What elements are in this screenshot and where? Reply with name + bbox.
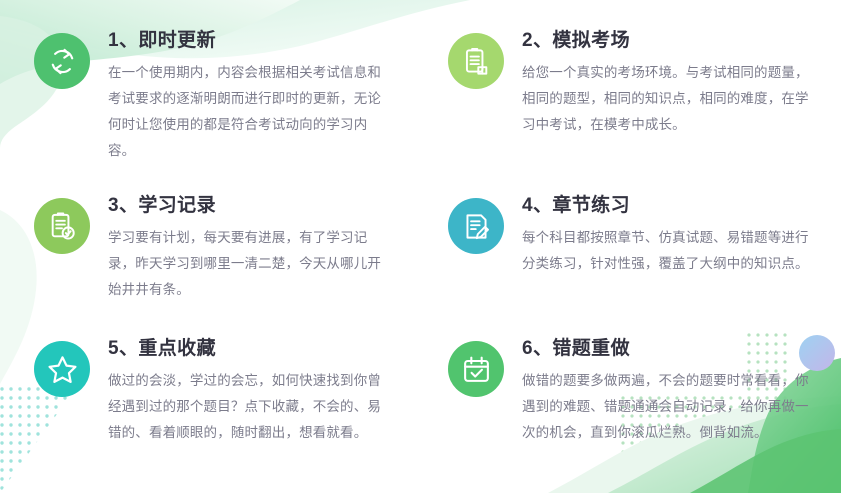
feature-card-4-title: 4、章节练习 bbox=[522, 193, 811, 219]
feature-card-1: 1、即时更新 在一个使用期内，内容会根据相关考试信息和考试要求的逐渐明朗而进行即… bbox=[0, 28, 420, 193]
star-outline-icon bbox=[34, 341, 90, 397]
feature-card-3-title: 3、学习记录 bbox=[108, 193, 390, 219]
feature-card-4-body: 4、章节练习 每个科目都按照章节、仿真试题、易错题等进行分类练习，针对性强，覆盖… bbox=[522, 193, 811, 277]
feature-card-5-body: 5、重点收藏 做过的会淡，学过的会忘，如何快速找到你曾经遇到过的那个题目？点下收… bbox=[108, 336, 390, 446]
calendar-check-icon bbox=[448, 341, 504, 397]
feature-card-2-desc: 给您一个真实的考场环境。与考试相同的题量，相同的题型，相同的知识点，相同的难度，… bbox=[522, 60, 811, 138]
feature-card-6: 6、错题重做 做错的题要多做两遍，不会的题要时常看看，你遇到的难题、错题通通会自… bbox=[420, 336, 841, 493]
clipboard-book-icon bbox=[448, 33, 504, 89]
feature-card-1-title: 1、即时更新 bbox=[108, 28, 390, 54]
feature-card-3-desc: 学习要有计划，每天要有进展，有了学习记录，昨天学习到哪里一清二楚，今天从哪儿开始… bbox=[108, 225, 390, 303]
feature-card-5-desc: 做过的会淡，学过的会忘，如何快速找到你曾经遇到过的那个题目？点下收藏，不会的、易… bbox=[108, 368, 390, 446]
clipboard-check-icon bbox=[34, 198, 90, 254]
feature-card-1-desc: 在一个使用期内，内容会根据相关考试信息和考试要求的逐渐明朗而进行即时的更新，无论… bbox=[108, 60, 390, 164]
feature-card-1-body: 1、即时更新 在一个使用期内，内容会根据相关考试信息和考试要求的逐渐明朗而进行即… bbox=[108, 28, 390, 164]
feature-card-5-title: 5、重点收藏 bbox=[108, 336, 390, 362]
refresh-sync-icon bbox=[34, 33, 90, 89]
document-pencil-icon bbox=[448, 198, 504, 254]
feature-card-2: 2、模拟考场 给您一个真实的考场环境。与考试相同的题量，相同的题型，相同的知识点… bbox=[420, 28, 841, 193]
feature-card-3: 3、学习记录 学习要有计划，每天要有进展，有了学习记录，昨天学习到哪里一清二楚，… bbox=[0, 193, 420, 336]
feature-card-5: 5、重点收藏 做过的会淡，学过的会忘，如何快速找到你曾经遇到过的那个题目？点下收… bbox=[0, 336, 420, 493]
feature-card-3-body: 3、学习记录 学习要有计划，每天要有进展，有了学习记录，昨天学习到哪里一清二楚，… bbox=[108, 193, 390, 303]
feature-card-2-title: 2、模拟考场 bbox=[522, 28, 811, 54]
feature-card-6-title: 6、错题重做 bbox=[522, 336, 811, 362]
feature-grid: 1、即时更新 在一个使用期内，内容会根据相关考试信息和考试要求的逐渐明朗而进行即… bbox=[0, 0, 841, 493]
feature-card-6-desc: 做错的题要多做两遍，不会的题要时常看看，你遇到的难题、错题通通会自动记录，给你再… bbox=[522, 368, 811, 446]
feature-card-4: 4、章节练习 每个科目都按照章节、仿真试题、易错题等进行分类练习，针对性强，覆盖… bbox=[420, 193, 841, 336]
feature-card-4-desc: 每个科目都按照章节、仿真试题、易错题等进行分类练习，针对性强，覆盖了大纲中的知识… bbox=[522, 225, 811, 277]
feature-card-2-body: 2、模拟考场 给您一个真实的考场环境。与考试相同的题量，相同的题型，相同的知识点… bbox=[522, 28, 811, 138]
feature-card-6-body: 6、错题重做 做错的题要多做两遍，不会的题要时常看看，你遇到的难题、错题通通会自… bbox=[522, 336, 811, 446]
